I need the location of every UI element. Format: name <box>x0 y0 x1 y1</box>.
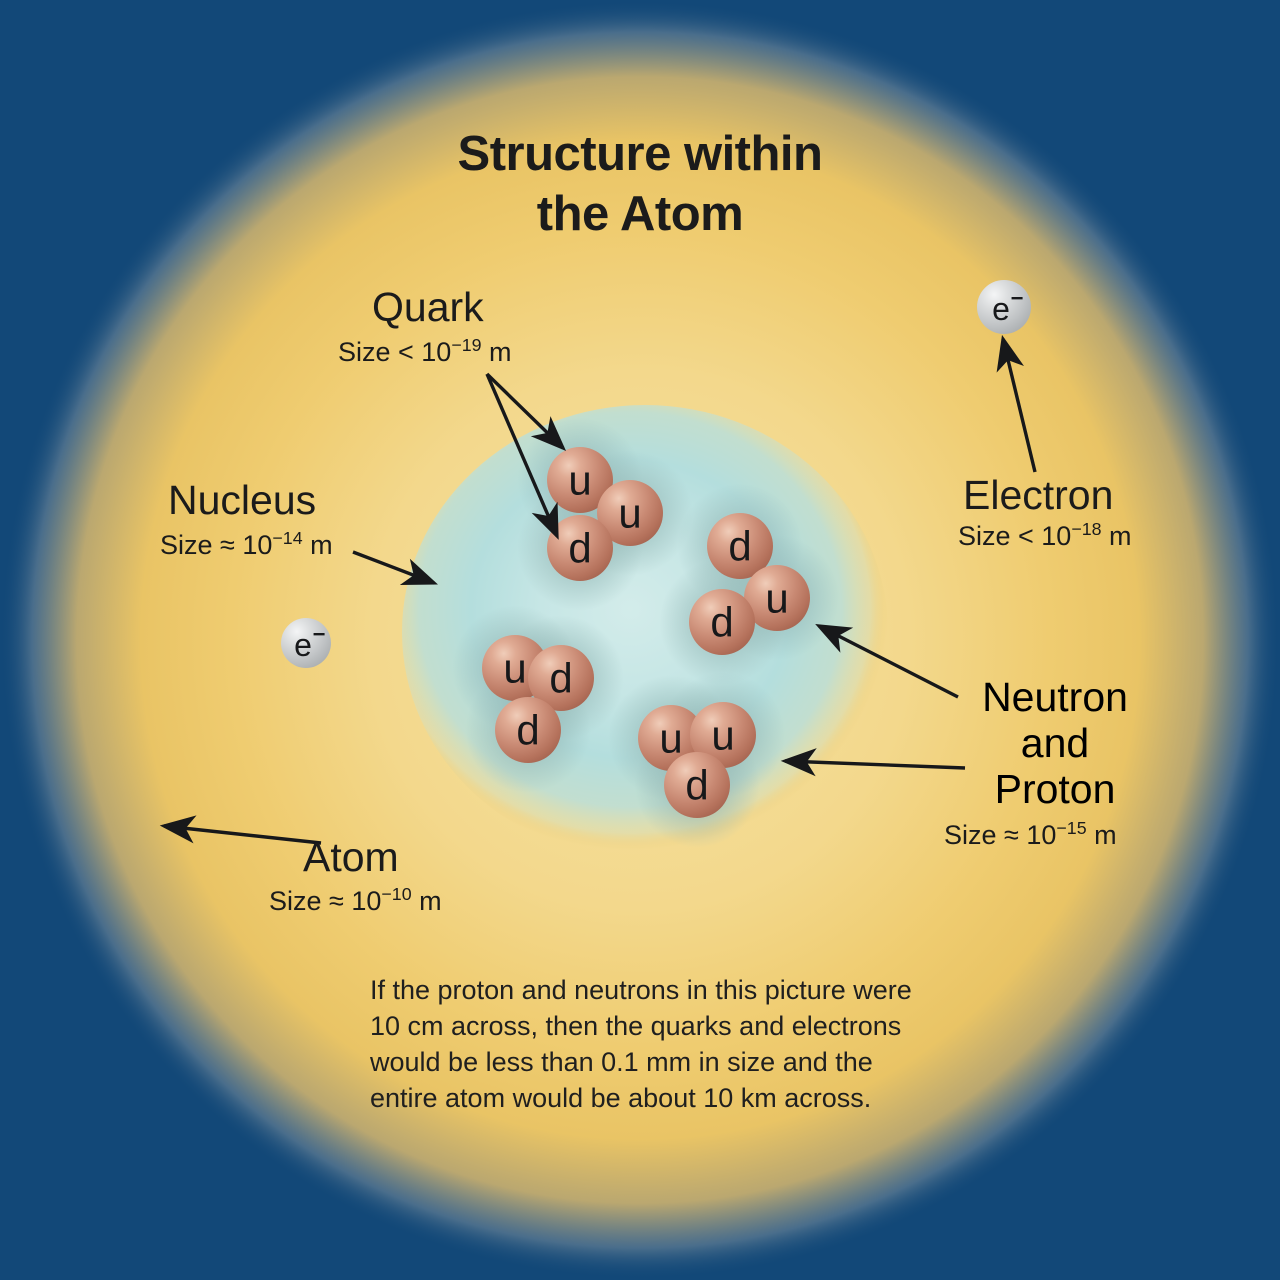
page-title-line2: the Atom <box>390 186 890 242</box>
atom-label: Atom <box>303 834 399 881</box>
quark-arrow-to-u <box>487 374 563 448</box>
nucleon-size-unit: m <box>1087 820 1117 850</box>
electron-size: Size < 10−18 m <box>958 519 1132 552</box>
electron-size-base: Size < 10 <box>958 521 1071 551</box>
nucleon-label-block: Neutron and Proton <box>930 674 1180 812</box>
atom-size-unit: m <box>412 886 442 916</box>
electron-label: Electron <box>963 472 1113 519</box>
quark-size-unit: m <box>482 337 512 367</box>
nucleus-size-unit: m <box>303 530 333 560</box>
quark-label: Quark <box>372 284 484 331</box>
nucleus-size-base: Size ≈ 10 <box>160 530 272 560</box>
quark-size: Size < 10−19 m <box>338 335 512 368</box>
nucleus-size: Size ≈ 10−14 m <box>160 528 333 561</box>
electron-size-unit: m <box>1102 521 1132 551</box>
nucleus-size-exponent: −14 <box>272 528 302 548</box>
electron-size-exponent: −18 <box>1071 519 1101 539</box>
nucleon-size-base: Size ≈ 10 <box>944 820 1056 850</box>
quark-size-base: Size < 10 <box>338 337 451 367</box>
atom-diagram: uuddududduude−e− Structure within the At… <box>0 0 1280 1280</box>
caption-line-1: If the proton and neutrons in this pictu… <box>370 972 990 1008</box>
nucleon-and-label: and <box>930 720 1180 766</box>
atom-arrow <box>164 826 321 843</box>
caption-line-4: entire atom would be about 10 km across. <box>370 1080 990 1116</box>
atom-size: Size ≈ 10−10 m <box>269 884 442 917</box>
electron-arrow <box>1003 339 1035 472</box>
nucleon-size: Size ≈ 10−15 m <box>944 818 1117 851</box>
caption-line-2: 10 cm across, then the quarks and electr… <box>370 1008 990 1044</box>
nucleon-size-exponent: −15 <box>1056 818 1086 838</box>
atom-size-exponent: −10 <box>381 884 411 904</box>
nucleus-label: Nucleus <box>168 477 316 524</box>
quark-arrow-to-d <box>487 374 557 536</box>
atom-size-base: Size ≈ 10 <box>269 886 381 916</box>
caption-line-3: would be less than 0.1 mm in size and th… <box>370 1044 990 1080</box>
quark-size-exponent: −19 <box>451 335 481 355</box>
nucleus-arrow <box>353 552 434 583</box>
scale-caption: If the proton and neutrons in this pictu… <box>370 972 990 1116</box>
neutron-label: Neutron <box>930 674 1180 720</box>
proton-label: Proton <box>930 766 1180 812</box>
page-title-line1: Structure within <box>390 126 890 182</box>
